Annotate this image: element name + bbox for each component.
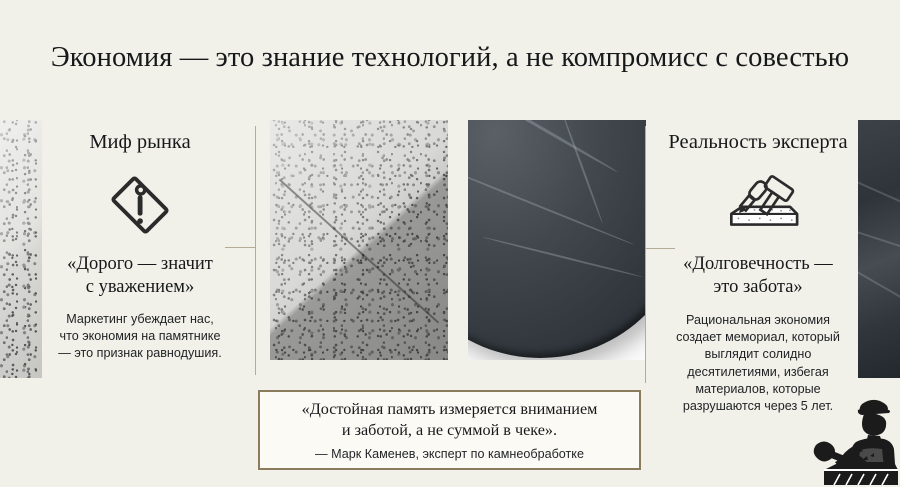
column-reality: Реальность эксперта — [652, 130, 864, 415]
quote-line: «Достойная память измеряется вниманием — [302, 399, 598, 419]
photo-granite-slab — [270, 120, 448, 360]
column-myth: Миф рынка «Дорого — значит с уважением» … — [34, 130, 246, 363]
granite-dark-band — [270, 120, 448, 360]
photo-slate-edge-right — [858, 120, 900, 378]
slate-vein — [858, 269, 900, 302]
photo-slate-disc — [468, 120, 646, 360]
page-title: Экономия — это знание технологий, а не к… — [0, 42, 900, 74]
body-line: — это признак равнодушия. — [34, 345, 246, 362]
stonemason-illustration — [800, 390, 898, 485]
quote-line: с уважением» — [34, 276, 246, 299]
column-title-myth: Миф рынка — [34, 130, 246, 155]
slate-vein — [858, 229, 900, 250]
slate-texture — [858, 120, 900, 378]
body-line: создает мемориал, который — [652, 329, 864, 346]
quote-line: это забота» — [652, 276, 864, 299]
pull-quote-box: «Достойная память измеряется вниманием и… — [258, 390, 641, 470]
pull-quote-text: «Достойная память измеряется вниманием и… — [302, 399, 598, 440]
chisel-mallet-stone-icon — [652, 171, 864, 239]
column-body-myth: Маркетинг убеждает нас, что экономия на … — [34, 311, 246, 362]
quote-line: «Долговечность — — [652, 253, 864, 276]
slate-disc-rim — [468, 120, 646, 358]
price-tag-exclamation-icon — [34, 171, 246, 239]
body-line: десятилетиями, избегая — [652, 364, 864, 381]
slate-vein — [858, 180, 900, 207]
divider-vertical-right — [645, 126, 646, 383]
body-line: Маркетинг убеждает нас, — [34, 311, 246, 328]
divider-vertical-left — [255, 126, 256, 375]
quote-line: «Дорого — значит — [34, 253, 246, 276]
quote-line: и заботой, а не суммой в чеке». — [302, 420, 598, 440]
slide-root: Экономия — это знание технологий, а не к… — [0, 0, 900, 487]
slate-disc-shape — [468, 120, 646, 358]
column-title-reality: Реальность эксперта — [652, 130, 864, 155]
body-line: что экономия на памятнике — [34, 328, 246, 345]
body-line: выглядит солидно — [652, 346, 864, 363]
column-quote-myth: «Дорого — значит с уважением» — [34, 253, 246, 300]
pull-quote-attribution: — Марк Каменев, эксперт по камнеобработк… — [315, 447, 584, 461]
body-line: Рациональная экономия — [652, 312, 864, 329]
column-quote-reality: «Долговечность — это забота» — [652, 253, 864, 300]
